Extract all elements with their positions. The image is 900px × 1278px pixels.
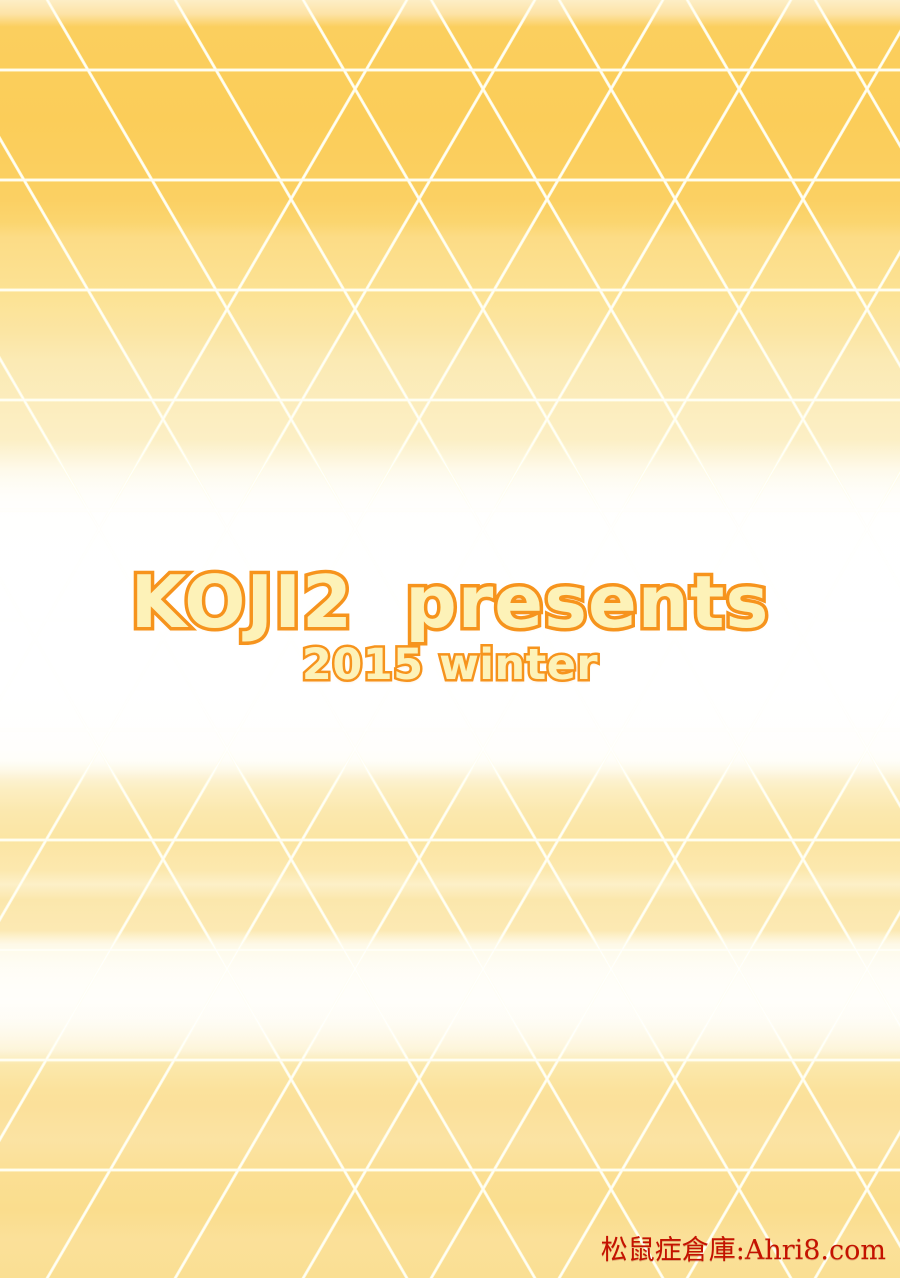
- site-watermark: 松鼠症倉庫:Ahri8.com: [601, 1237, 886, 1264]
- background-gradient-bands: [0, 0, 900, 1278]
- cover-page: KOJI2 presents 2015 winter 松鼠症倉庫:Ahri8.c…: [0, 0, 900, 1278]
